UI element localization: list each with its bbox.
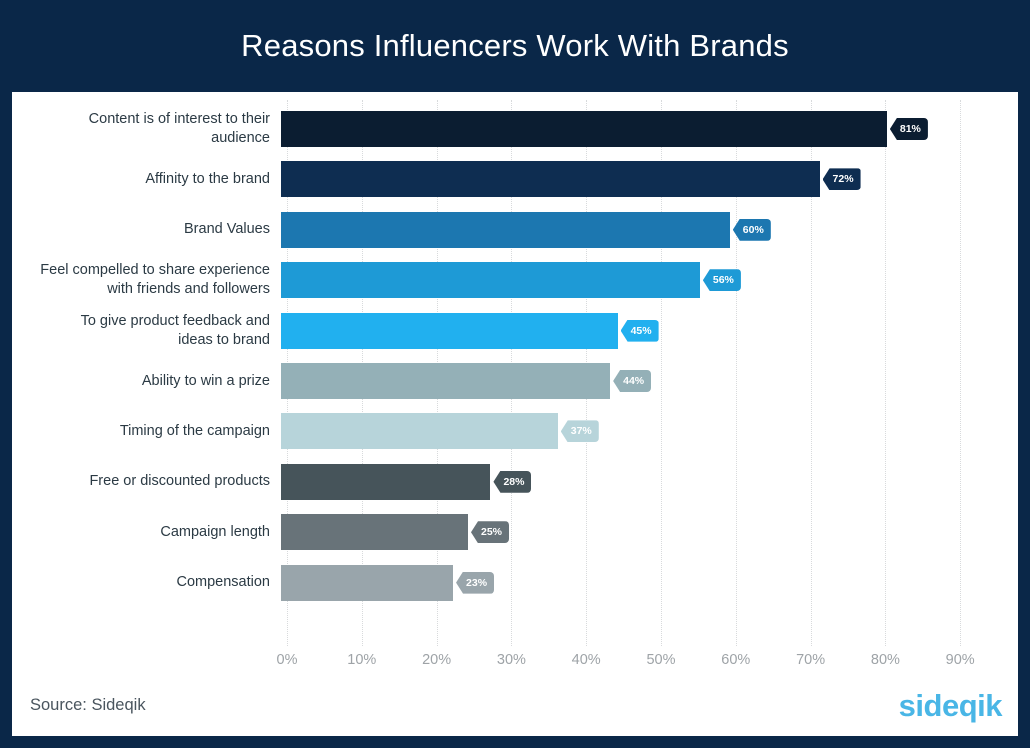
value-tag: 23%	[456, 572, 494, 594]
value-tag: 28%	[493, 471, 531, 493]
bar	[281, 161, 820, 197]
chart-page: Reasons Influencers Work With Brands Con…	[0, 0, 1030, 748]
value-tag: 60%	[733, 219, 771, 241]
x-tick-label: 0%	[277, 652, 298, 668]
chart-panel: Content is of interest to theiraudience8…	[12, 92, 1018, 736]
bar-row: To give product feedback andideas to bra…	[12, 306, 1018, 356]
plot-area: Content is of interest to theiraudience8…	[12, 92, 1018, 736]
category-label-line: To give product feedback and	[81, 312, 270, 331]
value-tag: 72%	[823, 168, 861, 190]
bar	[281, 363, 610, 399]
page-title: Reasons Influencers Work With Brands	[241, 28, 789, 64]
x-tick-label: 10%	[347, 652, 376, 668]
bar	[281, 111, 887, 147]
bar	[281, 413, 558, 449]
x-tick-label: 20%	[422, 652, 451, 668]
category-label: Compensation	[12, 558, 276, 608]
source-note: Source: Sideqik	[30, 696, 146, 715]
value-tag: 25%	[471, 521, 509, 543]
category-label-line: Affinity to the brand	[145, 170, 270, 189]
category-label-line: Content is of interest to their	[89, 110, 270, 129]
value-tag: 44%	[613, 370, 651, 392]
bar	[281, 514, 468, 550]
category-label: Feel compelled to share experiencewith f…	[12, 255, 276, 305]
category-label: Brand Values	[12, 205, 276, 255]
category-label-line: Campaign length	[160, 523, 270, 542]
category-label: To give product feedback andideas to bra…	[12, 306, 276, 356]
value-tag: 56%	[703, 269, 741, 291]
bar	[281, 313, 618, 349]
bar-row: Timing of the campaign37%	[12, 406, 1018, 456]
bar-row: Content is of interest to theiraudience8…	[12, 104, 1018, 154]
bar-row: Feel compelled to share experiencewith f…	[12, 255, 1018, 305]
category-label: Content is of interest to theiraudience	[12, 104, 276, 154]
category-label: Free or discounted products	[12, 457, 276, 507]
title-bar: Reasons Influencers Work With Brands	[0, 0, 1030, 92]
bar-row: Campaign length25%	[12, 507, 1018, 557]
category-label-line: with friends and followers	[107, 280, 270, 299]
value-tag: 37%	[561, 420, 599, 442]
x-tick-label: 60%	[721, 652, 750, 668]
category-label: Campaign length	[12, 507, 276, 557]
x-tick-label: 90%	[946, 652, 975, 668]
category-label: Affinity to the brand	[12, 154, 276, 204]
bar-row: Affinity to the brand72%	[12, 154, 1018, 204]
sideqik-logo: sideqik	[899, 688, 1002, 724]
bar-row: Brand Values60%	[12, 205, 1018, 255]
category-label-line: Free or discounted products	[89, 472, 270, 491]
bar	[281, 212, 730, 248]
x-tick-label: 30%	[497, 652, 526, 668]
category-label-line: Compensation	[177, 573, 271, 592]
bar	[281, 262, 700, 298]
category-label-line: Feel compelled to share experience	[40, 261, 270, 280]
x-tick-label: 80%	[871, 652, 900, 668]
x-axis: 0%10%20%30%40%50%60%70%80%90%	[12, 648, 1018, 678]
category-label-line: Ability to win a prize	[142, 372, 270, 391]
bar-row: Free or discounted products28%	[12, 457, 1018, 507]
bar	[281, 464, 490, 500]
x-tick-label: 40%	[572, 652, 601, 668]
category-label: Ability to win a prize	[12, 356, 276, 406]
bar-row: Ability to win a prize44%	[12, 356, 1018, 406]
category-label: Timing of the campaign	[12, 406, 276, 456]
category-label-line: ideas to brand	[178, 331, 270, 350]
value-tag: 81%	[890, 118, 928, 140]
category-label-line: Brand Values	[184, 220, 270, 239]
category-label-line: audience	[211, 129, 270, 148]
category-label-line: Timing of the campaign	[120, 422, 270, 441]
bar	[281, 565, 453, 601]
x-tick-label: 70%	[796, 652, 825, 668]
value-tag: 45%	[621, 320, 659, 342]
x-tick-label: 50%	[646, 652, 675, 668]
bar-row: Compensation23%	[12, 558, 1018, 608]
